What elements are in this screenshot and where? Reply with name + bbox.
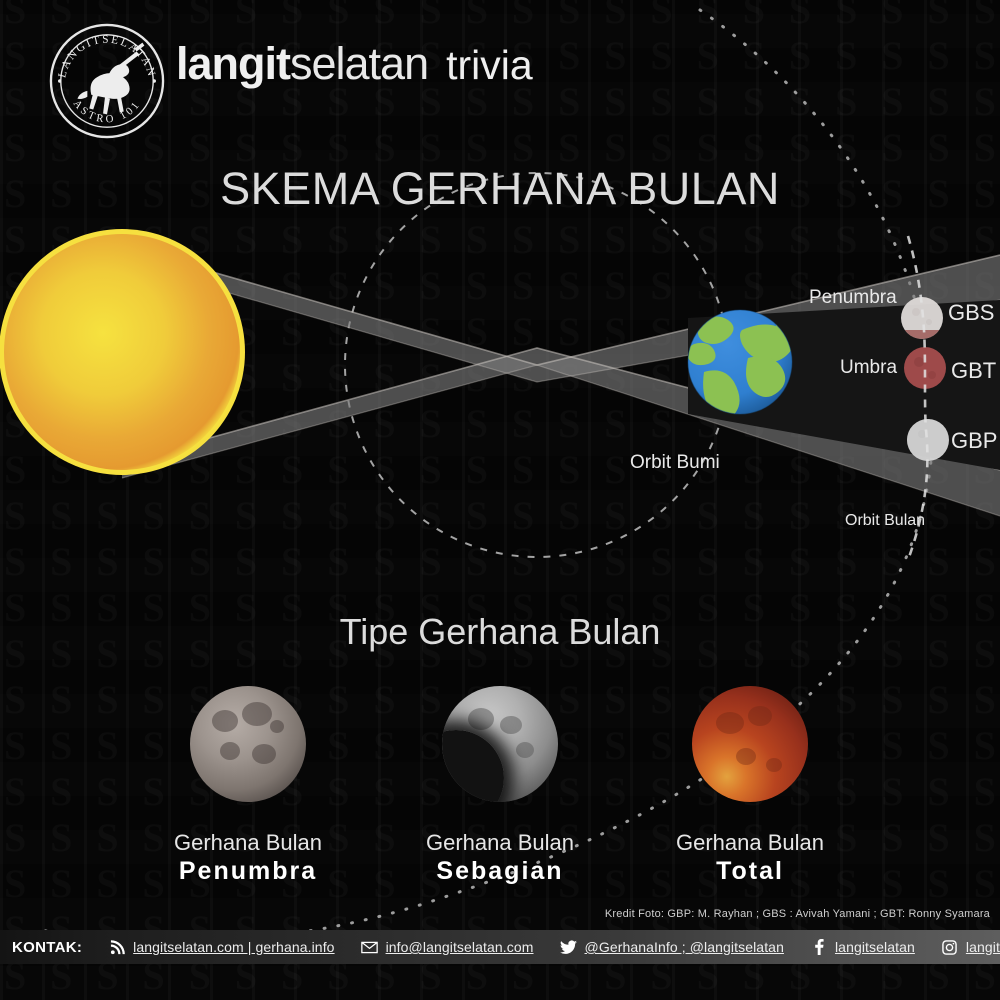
label-umbra: Umbra (840, 357, 897, 379)
moon-photo-penumbra (190, 686, 306, 802)
contact-footer: KONTAK: langitselatan.com | gerhana.info… (0, 930, 1000, 964)
footer-item-instagram[interactable]: langitselatanmedia (941, 938, 1000, 956)
brand-wordmark: langitselatantrivia (176, 38, 533, 90)
label-orbit-bulan: Orbit Bulan (845, 512, 925, 530)
footer-item-text: info@langitselatan.com (386, 939, 534, 955)
footer-item-facebook[interactable]: langitselatan (810, 938, 915, 956)
sun (0, 229, 245, 475)
moon-photo-sebagian (442, 686, 558, 802)
section-subtitle: Tipe Gerhana Bulan (0, 611, 1000, 653)
footer-item-text: @GerhanaInfo ; @langitselatan (585, 939, 784, 955)
footer-item-website[interactable]: langitselatan.com | gerhana.info (108, 938, 334, 956)
moon-type-penumbra: Gerhana Bulan Penumbra (138, 686, 358, 886)
infographic-page: SSSSSSSSSSSSSSSSSSSSSSSSSSSSSSSSSSSSSSSS… (0, 0, 1000, 1000)
instagram-icon (941, 938, 959, 956)
footer-item-email[interactable]: info@langitselatan.com (361, 938, 534, 956)
moon-caption-top: Gerhana Bulan (390, 830, 610, 856)
envelope-icon (361, 938, 379, 956)
moon-photo-total (692, 686, 808, 802)
moon-caption-top: Gerhana Bulan (138, 830, 358, 856)
moon-type-sebagian: Gerhana Bulan Sebagian (390, 686, 610, 886)
kontak-label: KONTAK: (12, 939, 82, 956)
moon-type-total: Gerhana Bulan Total (640, 686, 860, 886)
twitter-icon (560, 938, 578, 956)
facebook-icon (810, 938, 828, 956)
photo-credit: Kredit Foto: GBP: M. Rayhan ; GBS : Aviv… (605, 908, 990, 920)
footer-item-text: langitselatanmedia (966, 939, 1000, 955)
moon-caption-bottom: Sebagian (390, 857, 610, 886)
brand-trivia: trivia (446, 42, 533, 88)
brand-langit: langit (176, 38, 290, 89)
logo-arc-top-text: LANGITSELATAN (56, 34, 157, 80)
footer-item-text: langitselatan.com | gerhana.info (133, 939, 334, 955)
page-title: SKEMA GERHANA BULAN (0, 163, 1000, 215)
label-orbit-bumi: Orbit Bumi (630, 452, 720, 474)
rss-icon (108, 938, 126, 956)
label-gbp: GBP (951, 428, 997, 454)
label-penumbra: Penumbra (809, 287, 897, 309)
moon-caption-top: Gerhana Bulan (640, 830, 860, 856)
eclipse-shadow-bite (442, 730, 504, 802)
footer-item-text: langitselatan (835, 939, 915, 955)
moon-caption-bottom: Penumbra (138, 857, 358, 886)
moon-total-position (904, 347, 946, 389)
label-gbt: GBT (951, 358, 996, 384)
langitselatan-seal-logo: LANGITSELATAN ASTRO 101 (48, 22, 166, 140)
brand-selatan: selatan (290, 38, 428, 89)
moon-caption-bottom: Total (640, 857, 860, 886)
page-header: LANGITSELATAN ASTRO 101 langitselatant (0, 0, 1000, 140)
footer-item-twitter[interactable]: @GerhanaInfo ; @langitselatan (560, 938, 784, 956)
label-gbs: GBS (948, 300, 994, 326)
